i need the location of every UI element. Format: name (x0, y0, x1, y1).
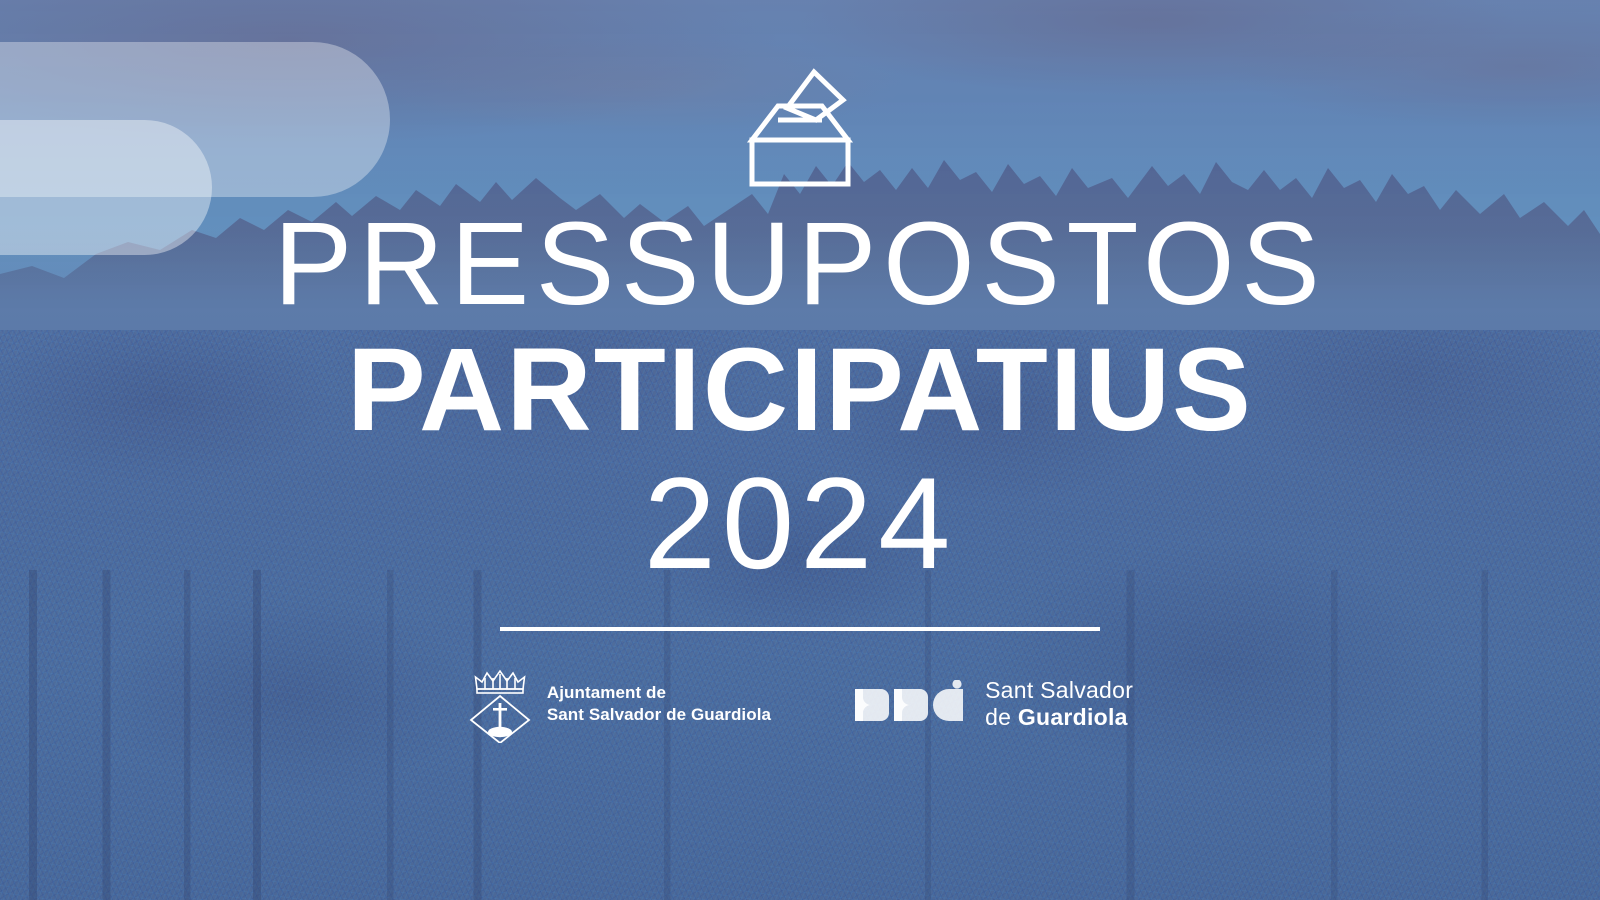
ajuntament-line-1: Ajuntament de (547, 682, 771, 705)
ssg-line-2-light: de (985, 704, 1018, 730)
title-line-pressupostos: PRESSUPOSTOS (0, 204, 1600, 324)
ssg-line-1: Sant Salvador (985, 677, 1133, 705)
ssg-line-2: de Guardiola (985, 704, 1133, 732)
ajuntament-line-2: Sant Salvador de Guardiola (547, 704, 771, 727)
ajuntament-logo-text: Ajuntament de Sant Salvador de Guardiola (547, 682, 771, 728)
ssg-monogram-icon (853, 680, 971, 728)
diamond-crest-icon (467, 665, 533, 743)
divider (500, 627, 1100, 631)
ajuntament-logo: Ajuntament de Sant Salvador de Guardiola (467, 665, 771, 743)
poster-content: PRESSUPOSTOS PARTICIPATIUS 2024 (0, 0, 1600, 900)
ssg-logo-text: Sant Salvador de Guardiola (985, 677, 1133, 732)
ssg-logo: Sant Salvador de Guardiola (853, 677, 1133, 732)
ssg-line-2-bold: Guardiola (1018, 704, 1128, 730)
ballot-box-icon (744, 62, 856, 190)
poster-canvas: PRESSUPOSTOS PARTICIPATIUS 2024 (0, 0, 1600, 900)
title-line-participatius: PARTICIPATIUS (0, 330, 1600, 450)
page-title: PRESSUPOSTOS PARTICIPATIUS 2024 (0, 204, 1600, 589)
logo-row: Ajuntament de Sant Salvador de Guardiola (467, 665, 1133, 743)
title-line-year: 2024 (0, 457, 1600, 590)
